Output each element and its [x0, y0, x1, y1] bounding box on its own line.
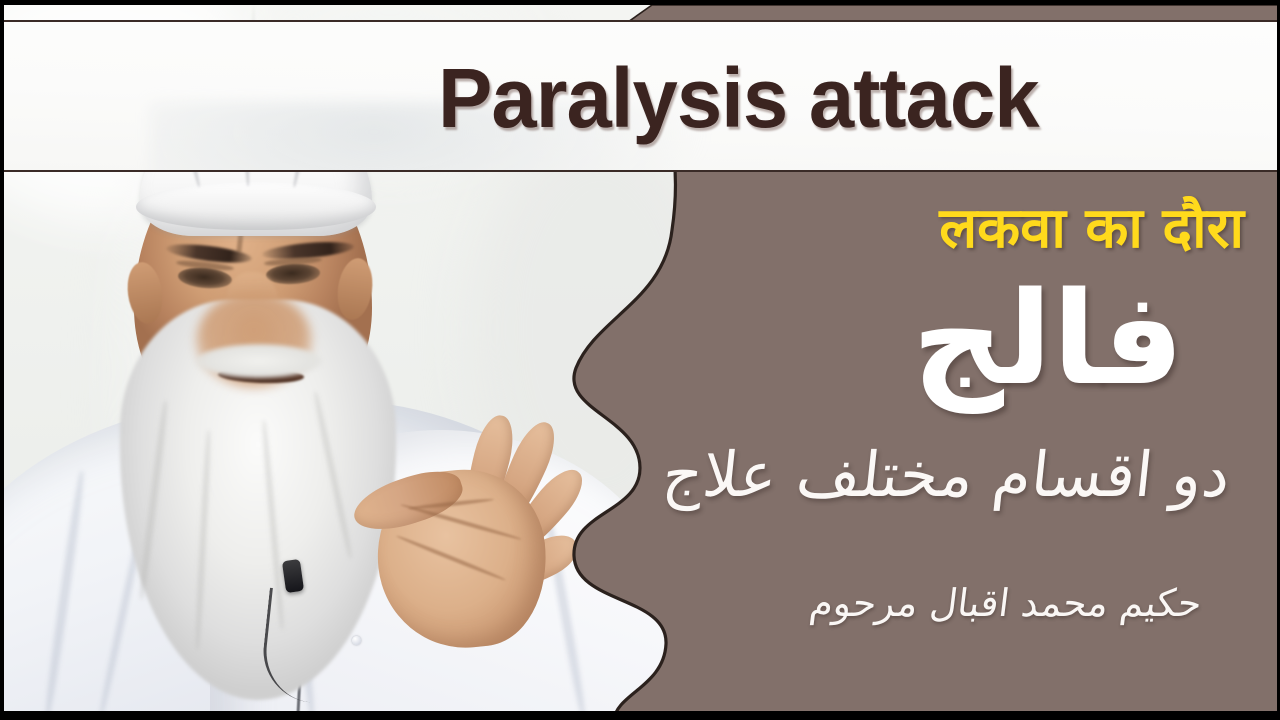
hindi-heading: लकवा का दौरा [939, 200, 1244, 259]
text-stack: लकवा का दौरा فالج دو اقسام مختلف علاج حک… [640, 172, 1280, 712]
page-title: Paralysis attack [438, 56, 1039, 140]
shirt-button [352, 636, 361, 645]
moustache [196, 344, 322, 378]
video-thumbnail: Paralysis attack लकवा का दौरा فالج دو اق… [0, 0, 1280, 720]
prayer-cap-brim [136, 182, 376, 230]
urdu-subtitle: دو اقسام مختلف علاج [660, 444, 1233, 506]
title-band: Paralysis attack [0, 20, 1280, 172]
letterbox-bar-left [0, 0, 4, 720]
letterbox-bar-top [0, 0, 1280, 5]
urdu-byline: حکیم محمد اقبال مرحوم [808, 584, 1204, 622]
urdu-headline: فالج [912, 276, 1184, 404]
letterbox-bar-bottom [0, 711, 1280, 720]
